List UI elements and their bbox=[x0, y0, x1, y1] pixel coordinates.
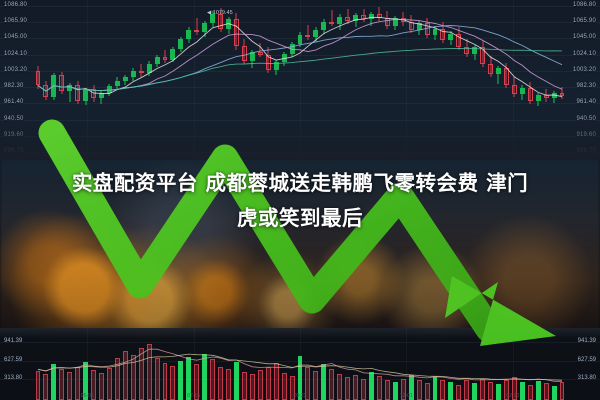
candle-body bbox=[298, 35, 303, 45]
volume-bar bbox=[266, 367, 271, 400]
volume-bar bbox=[178, 361, 183, 400]
volume-bar bbox=[258, 370, 263, 400]
candle-body bbox=[36, 71, 41, 86]
volume-bar bbox=[440, 380, 445, 400]
candle-body bbox=[369, 14, 374, 19]
price-tick-label: 1086.80 bbox=[573, 2, 596, 8]
candle-body bbox=[258, 52, 263, 54]
candle-body bbox=[337, 17, 342, 24]
volume-bar bbox=[425, 383, 430, 400]
price-tick-label: 961.40 bbox=[4, 99, 24, 105]
candle-body bbox=[440, 29, 445, 40]
volume-bar bbox=[123, 351, 128, 400]
candle-body bbox=[552, 93, 557, 99]
price-tick-label: 1065.90 bbox=[573, 18, 596, 24]
candle-body bbox=[464, 47, 469, 54]
volume-tick-label: 313.80 bbox=[578, 375, 596, 381]
volume-tick-label: 313.80 bbox=[4, 375, 22, 381]
candle-body bbox=[282, 54, 287, 62]
candle-body bbox=[59, 75, 64, 91]
volume-bar bbox=[115, 358, 120, 400]
candle-body bbox=[417, 23, 422, 29]
candle-body bbox=[409, 22, 414, 29]
volume-bar bbox=[51, 364, 56, 400]
candle-body bbox=[43, 85, 48, 96]
candle-body bbox=[107, 86, 112, 92]
volume-tick-label: 627.59 bbox=[4, 357, 22, 363]
headline-line-1: 实盘配资平台 成都蓉城送走韩鹏飞零转会费 津门 bbox=[72, 171, 528, 195]
candle-body bbox=[218, 14, 223, 29]
volume-tick-label: 941.39 bbox=[578, 338, 596, 344]
candle-wick bbox=[260, 43, 261, 57]
volume-bar bbox=[274, 363, 279, 400]
volume-bar bbox=[170, 366, 175, 400]
volume-bar bbox=[139, 348, 144, 400]
volume-bar bbox=[210, 359, 215, 400]
candle-body bbox=[178, 39, 183, 49]
volume-bar bbox=[472, 383, 477, 400]
candle-body bbox=[234, 19, 239, 46]
volume-bar bbox=[464, 380, 469, 400]
price-tick-label: 1045.00 bbox=[573, 34, 596, 40]
volume-bar bbox=[369, 372, 374, 400]
candle-body bbox=[560, 93, 565, 96]
date-tick-label: 02-10 bbox=[506, 393, 519, 399]
candle-body bbox=[147, 64, 152, 74]
volume-bar bbox=[242, 372, 247, 400]
candle-body bbox=[504, 68, 509, 84]
volume-bar bbox=[163, 363, 168, 400]
candle-body bbox=[496, 68, 501, 74]
volume-bar bbox=[107, 368, 112, 400]
volume-bar bbox=[43, 374, 48, 400]
volume-bar bbox=[282, 373, 287, 400]
candle-body bbox=[194, 30, 199, 32]
candle-body bbox=[401, 18, 406, 22]
price-annotation: ◀ 1079.45 bbox=[207, 10, 233, 16]
stock-chart-banner: 1086.801065.901045.001024.101003.20982.3… bbox=[0, 0, 600, 400]
volume-bar bbox=[456, 385, 461, 400]
volume-bar bbox=[528, 385, 533, 400]
volume-bar bbox=[560, 382, 565, 400]
price-tick-label: 1045.00 bbox=[4, 34, 27, 40]
price-tick-label: 982.30 bbox=[576, 83, 596, 89]
candle-body bbox=[425, 23, 430, 35]
candle-body bbox=[75, 85, 80, 100]
candle-body bbox=[321, 22, 326, 29]
price-tick-label: 1065.90 bbox=[4, 18, 27, 24]
candle-wick bbox=[196, 18, 197, 35]
volume-bar bbox=[155, 358, 160, 400]
candle-body bbox=[385, 18, 390, 26]
volume-bar bbox=[361, 379, 366, 400]
volume-bar bbox=[131, 355, 136, 400]
candle-body bbox=[123, 77, 128, 80]
candle-body bbox=[433, 29, 438, 35]
volume-bar bbox=[480, 379, 485, 400]
volume-bar bbox=[226, 369, 231, 400]
price-panel-fade bbox=[0, 114, 600, 160]
date-tick-label: 05-06 bbox=[81, 393, 94, 399]
volume-bar bbox=[202, 354, 207, 400]
price-tick-label: 961.40 bbox=[576, 99, 596, 105]
candle-body bbox=[242, 46, 247, 61]
volume-bar bbox=[321, 364, 326, 400]
price-tick-label: 1003.20 bbox=[4, 67, 27, 73]
candle-body bbox=[305, 35, 310, 37]
volume-bar bbox=[433, 377, 438, 400]
candle-wick bbox=[307, 25, 308, 40]
price-tick-label: 1024.10 bbox=[573, 51, 596, 57]
candle-body bbox=[91, 89, 96, 98]
volume-bar bbox=[218, 367, 223, 400]
candle-body bbox=[115, 81, 120, 87]
candle-body bbox=[536, 95, 541, 101]
candle-body bbox=[250, 52, 255, 61]
volume-bar bbox=[393, 382, 398, 400]
gridline bbox=[406, 328, 407, 400]
candle-body bbox=[377, 14, 382, 17]
candle-body bbox=[313, 30, 318, 37]
candle-body bbox=[520, 88, 525, 94]
candle-body bbox=[480, 47, 485, 63]
candle-body bbox=[329, 22, 334, 24]
volume-bar bbox=[448, 382, 453, 400]
candle-body bbox=[512, 85, 517, 94]
candle-body bbox=[290, 44, 295, 54]
candle-body bbox=[186, 30, 191, 40]
volume-bar bbox=[544, 383, 549, 400]
candle-body bbox=[456, 34, 461, 47]
date-tick-label: 12-01 bbox=[400, 393, 413, 399]
candle-body bbox=[274, 62, 279, 70]
date-tick-label: 07-15 bbox=[187, 393, 200, 399]
volume-bar bbox=[99, 373, 104, 400]
candle-body bbox=[393, 18, 398, 25]
volume-bar bbox=[67, 372, 72, 400]
candle-body bbox=[488, 64, 493, 75]
volume-bar bbox=[353, 375, 358, 400]
candle-body bbox=[472, 47, 477, 53]
volume-bar bbox=[337, 374, 342, 400]
volume-tick-label: 941.39 bbox=[4, 338, 22, 344]
candle-body bbox=[528, 88, 533, 101]
volume-bar bbox=[552, 386, 557, 400]
candle-body bbox=[266, 55, 271, 70]
candle-body bbox=[51, 75, 56, 97]
price-tick-label: 1003.20 bbox=[573, 67, 596, 73]
headline: 实盘配资平台 成都蓉城送走韩鹏飞零转会费 津门 虎或笑到最后 bbox=[0, 166, 600, 236]
volume-bar bbox=[59, 369, 64, 400]
candle-body bbox=[83, 89, 88, 100]
candle-body bbox=[448, 34, 453, 40]
volume-bar bbox=[377, 376, 382, 400]
candle-body bbox=[345, 17, 350, 21]
candle-body bbox=[544, 95, 549, 98]
price-tick-label: 1024.10 bbox=[4, 51, 27, 57]
candle-body bbox=[139, 71, 144, 73]
price-tick-label: 982.30 bbox=[4, 83, 24, 89]
volume-bar bbox=[329, 369, 334, 400]
volume-bar bbox=[147, 344, 152, 400]
candle-body bbox=[155, 57, 160, 63]
candle-body bbox=[202, 23, 207, 32]
volume-bar bbox=[385, 380, 390, 400]
volume-bar bbox=[234, 362, 239, 400]
price-tick-label: 1086.80 bbox=[4, 2, 27, 8]
volume-bar bbox=[520, 382, 525, 400]
volume-bar bbox=[496, 384, 501, 400]
headline-line-2: 虎或笑到最后 bbox=[0, 201, 600, 236]
candle-body bbox=[170, 49, 175, 60]
volume-tick-label: 627.59 bbox=[578, 357, 596, 363]
volume-bar bbox=[313, 371, 318, 400]
volume-bar bbox=[36, 371, 41, 400]
candle-body bbox=[226, 19, 231, 29]
volume-chart-panel: 941.39627.59313.80 941.39627.59313.80 05… bbox=[0, 328, 600, 400]
volume-bar bbox=[345, 377, 350, 400]
volume-bar bbox=[417, 380, 422, 400]
volume-bar bbox=[536, 381, 541, 400]
candle-body bbox=[353, 15, 358, 21]
volume-bar bbox=[488, 382, 493, 400]
candle-body bbox=[67, 85, 72, 91]
candle-body bbox=[361, 15, 366, 19]
candle-body bbox=[99, 93, 104, 99]
volume-bar bbox=[250, 374, 255, 400]
date-tick-label: 09-23 bbox=[294, 393, 307, 399]
candle-body bbox=[131, 71, 136, 77]
candle-body bbox=[163, 57, 168, 59]
price-chart-panel: 1086.801065.901045.001024.101003.20982.3… bbox=[0, 0, 600, 160]
volume-bar bbox=[75, 367, 80, 400]
